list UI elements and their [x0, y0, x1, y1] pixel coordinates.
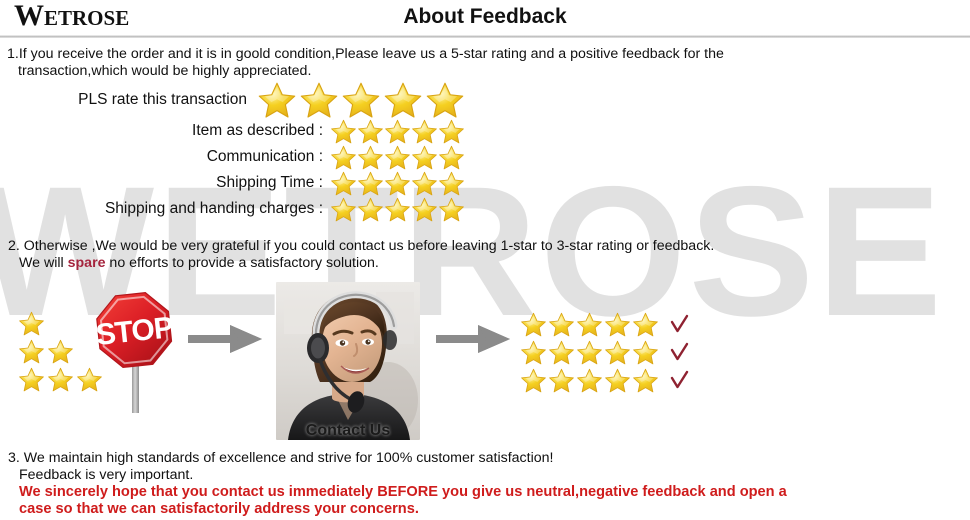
star-icon: [357, 170, 384, 197]
star-icon: [341, 80, 381, 120]
star-icon: [383, 80, 423, 120]
star-icon: [548, 339, 575, 366]
star-icon: [411, 196, 438, 223]
star-icon: [357, 144, 384, 171]
star-icon: [357, 118, 384, 145]
instruction-item-3-line-2: Feedback is very important.: [8, 467, 787, 484]
right-arrow-icon: [186, 322, 264, 361]
star-group-shipping-time[interactable]: [330, 170, 465, 197]
instruction-item-1: 1.If you receive the order and it is in …: [7, 46, 724, 80]
star-icon: [632, 311, 659, 338]
star-icon: [330, 196, 357, 223]
process-graphic: STOP: [0, 282, 970, 447]
instruction-item-3-line-4: case so that we can satisfactorily addre…: [8, 501, 787, 518]
star-icon: [632, 339, 659, 366]
rating-row-shipping-charges[interactable]: Shipping and handing charges :: [0, 196, 465, 222]
star-icon: [384, 144, 411, 171]
stop-sign-icon: STOP: [82, 288, 192, 413]
star-icon: [438, 196, 465, 223]
rating-label-shipping-time: Shipping Time :: [216, 174, 330, 192]
instruction-item-3-line-3: We sincerely hope that you contact us im…: [8, 484, 787, 501]
star-icon: [520, 367, 547, 394]
star-icon: [632, 367, 659, 394]
star-icon: [330, 118, 357, 145]
star-grid-row: [520, 366, 689, 394]
rating-label-shipping-charges: Shipping and handing charges :: [105, 200, 330, 218]
star-icon: [330, 170, 357, 197]
rating-label-communication: Communication :: [207, 148, 330, 166]
star-icon: [411, 118, 438, 145]
instruction-item-2-highlight: spare: [68, 255, 106, 271]
instruction-item-2-prefix: We will: [19, 255, 68, 271]
star-grid-row: [520, 338, 689, 366]
star-icon: [520, 339, 547, 366]
right-arrow-icon: [434, 322, 512, 361]
star-icon: [438, 144, 465, 171]
star-icon: [330, 144, 357, 171]
rating-row-shipping-time[interactable]: Shipping Time :: [0, 170, 465, 196]
check-icon: [670, 314, 689, 335]
star-icon: [438, 118, 465, 145]
star-icon: [47, 366, 74, 393]
rating-row-item-as-described[interactable]: Item as described :: [0, 118, 465, 144]
instruction-item-1-line-2: transaction,which would be highly apprec…: [7, 63, 724, 80]
high-rating-star-grid: [520, 310, 689, 394]
star-icon: [18, 310, 45, 337]
star-icon: [257, 80, 297, 120]
rating-label-item-as-described: Item as described :: [192, 122, 330, 140]
rating-row-communication[interactable]: Communication :: [0, 144, 465, 170]
star-icon: [47, 338, 74, 365]
photo-caption: Contact Us: [276, 422, 420, 440]
star-icon: [576, 311, 603, 338]
star-icon: [18, 366, 45, 393]
page-title: About Feedback: [0, 5, 970, 29]
customer-service-photo: [276, 282, 420, 440]
header-divider: [0, 35, 970, 38]
star-icon: [18, 338, 45, 365]
check-icon: [670, 370, 689, 391]
star-icon: [438, 170, 465, 197]
instruction-item-2-line-1: 2. Otherwise ,We would be very grateful …: [8, 238, 714, 255]
star-icon: [576, 339, 603, 366]
star-icon: [425, 80, 465, 120]
star-icon: [520, 311, 547, 338]
rating-label-prompt: PLS rate this transaction: [78, 91, 257, 109]
star-icon: [384, 196, 411, 223]
star-icon: [384, 118, 411, 145]
instruction-item-2-line-2: We will spare no efforts to provide a sa…: [8, 255, 714, 272]
star-icon: [548, 311, 575, 338]
star-icon: [604, 339, 631, 366]
star-icon: [576, 367, 603, 394]
star-icon: [411, 144, 438, 171]
rating-row-prompt[interactable]: PLS rate this transaction: [0, 82, 465, 118]
star-group-prompt[interactable]: [257, 80, 465, 120]
star-icon: [548, 367, 575, 394]
instruction-item-2: 2. Otherwise ,We would be very grateful …: [8, 238, 714, 272]
star-icon: [411, 170, 438, 197]
instruction-item-3: 3. We maintain high standards of excelle…: [8, 450, 787, 518]
instruction-item-2-suffix: no efforts to provide a satisfactory sol…: [105, 255, 378, 271]
star-icon: [299, 80, 339, 120]
header: Wetrose About Feedback: [0, 0, 970, 38]
instruction-item-3-line-1: 3. We maintain high standards of excelle…: [8, 450, 787, 467]
star-icon: [357, 196, 384, 223]
star-group-item-as-described[interactable]: [330, 118, 465, 145]
star-grid-row: [520, 310, 689, 338]
star-group-communication[interactable]: [330, 144, 465, 171]
star-icon: [604, 311, 631, 338]
check-icon: [670, 342, 689, 363]
star-icon: [604, 367, 631, 394]
star-icon: [384, 170, 411, 197]
star-group-shipping-charges[interactable]: [330, 196, 465, 223]
instruction-item-1-line-1: 1.If you receive the order and it is in …: [7, 46, 724, 63]
rating-block: PLS rate this transaction Item as descri…: [0, 82, 500, 222]
